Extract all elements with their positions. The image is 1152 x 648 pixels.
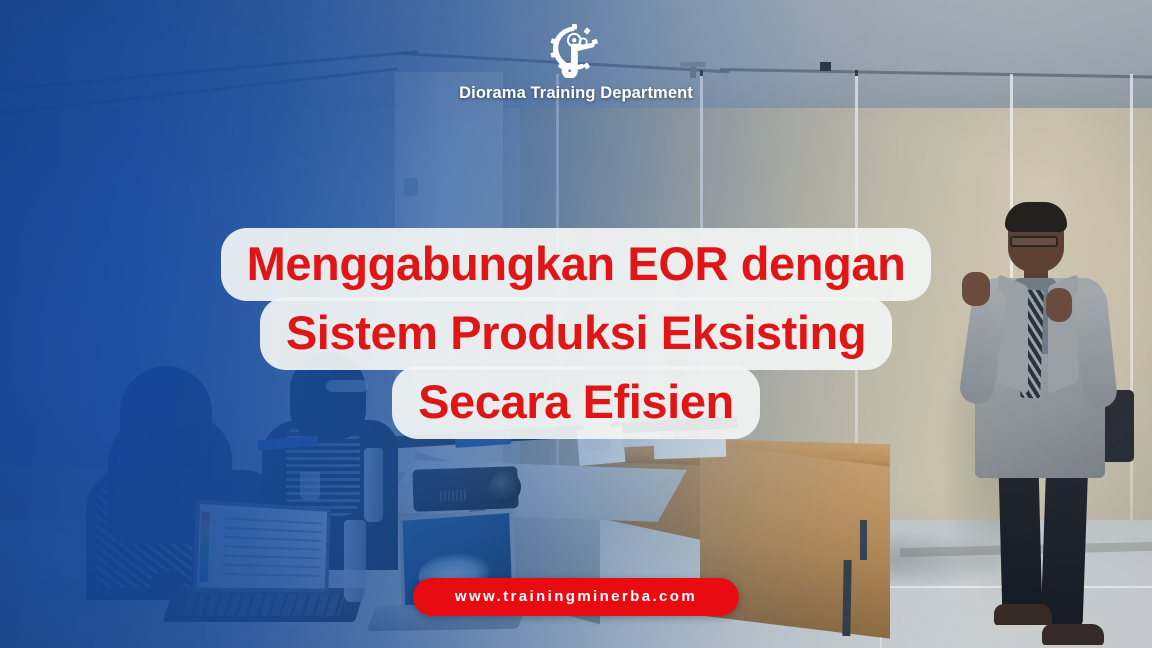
promotional-banner: Diorama Training Department Menggabungka… — [0, 0, 1152, 648]
headline-line-1: Menggabungkan EOR dengan — [221, 228, 932, 301]
gear-d-logo-icon — [547, 24, 605, 78]
department-name: Diorama Training Department — [459, 84, 693, 103]
headline-line-2: Sistem Produksi Eksisting — [260, 297, 892, 370]
website-url-badge[interactable]: www.trainingminerba.com — [413, 578, 739, 616]
banner-header: Diorama Training Department — [0, 24, 1152, 103]
headline-block: Menggabungkan EOR dengan Sistem Produksi… — [0, 228, 1152, 435]
headline-line-3: Secara Efisien — [392, 366, 760, 439]
